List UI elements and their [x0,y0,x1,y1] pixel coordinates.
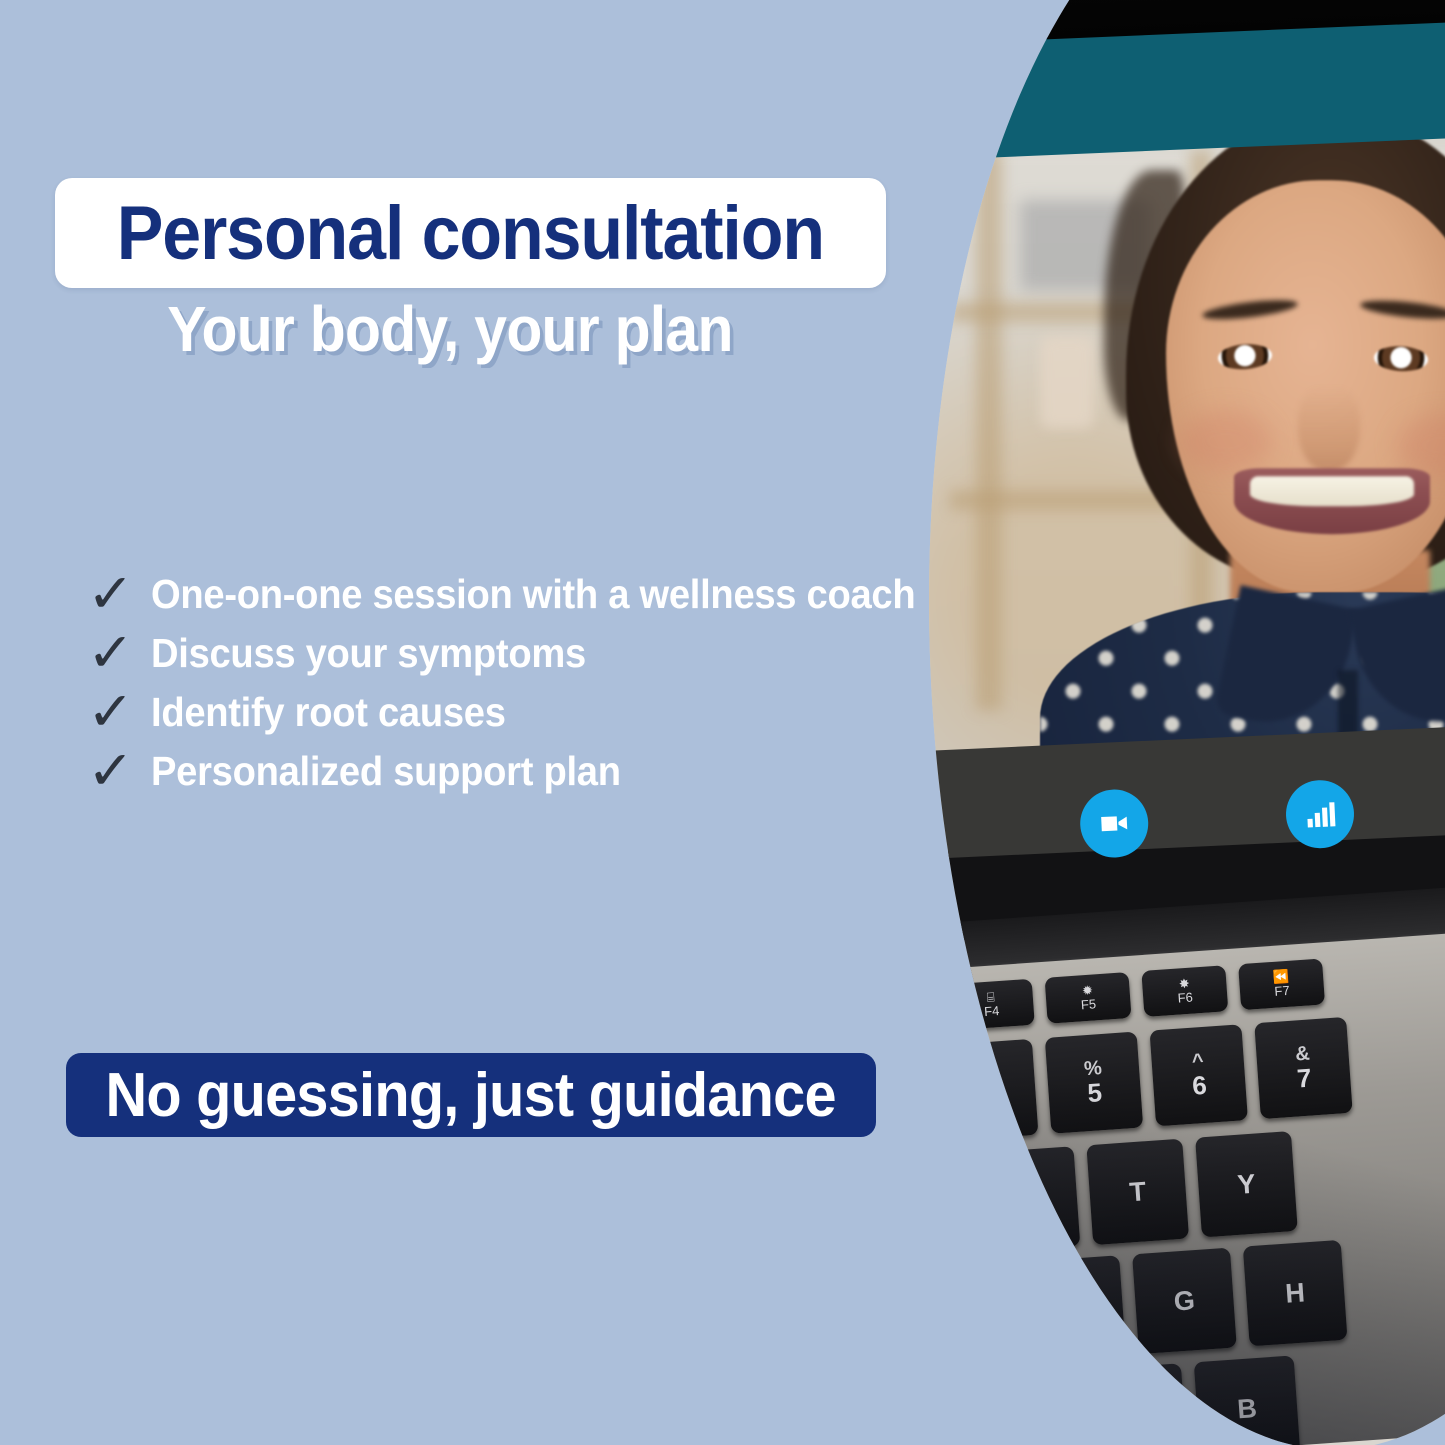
signal-bars-icon [1302,796,1338,832]
laptop-keyboard: ☀ F3 ⌸ F4 ✹ F5 ✸ F6 [900,907,1445,1445]
list-item: ✓ Discuss your symptoms [88,622,1068,671]
list-item: ✓ Identify root causes [88,681,1068,730]
keyboard-shading [900,907,1445,1445]
title-pill: Personal consultation [55,178,886,288]
shelf-jar [1040,336,1094,428]
teeth [1250,476,1414,506]
list-item: ✓ One-on-one session with a wellness coa… [88,563,1068,612]
check-icon: ✓ [87,626,135,680]
list-item-label: Identify root causes [151,689,506,736]
check-icon: ✓ [87,744,135,798]
signal-strength-button[interactable] [1284,779,1355,850]
list-item-label: One-on-one session with a wellness coach [151,571,915,618]
key[interactable]: # 3 [900,1046,934,1148]
cheek [1180,410,1272,472]
page-title: Personal consultation [117,190,824,277]
smiling-mouth [1234,468,1430,534]
tagline-banner: No guessing, just guidance [66,1053,876,1137]
list-item: ✓ Personalized support plan [88,740,1068,789]
benefits-list: ✓ One-on-one session with a wellness coa… [88,563,1068,799]
key[interactable]: ☀ F3 [900,986,938,1038]
check-icon: ✓ [87,685,135,739]
nose [1298,386,1360,472]
list-item-label: Discuss your symptoms [151,630,586,677]
list-item-label: Personalized support plan [151,748,621,795]
promo-graphic: ☀ F3 ⌸ F4 ✹ F5 ✸ F6 [0,0,1445,1445]
tagline-text: No guessing, just guidance [106,1060,836,1131]
check-icon: ✓ [87,567,135,621]
page-subtitle: Your body, your plan [36,292,864,366]
video-camera-icon [1096,806,1132,842]
video-camera-button[interactable] [1079,788,1150,859]
